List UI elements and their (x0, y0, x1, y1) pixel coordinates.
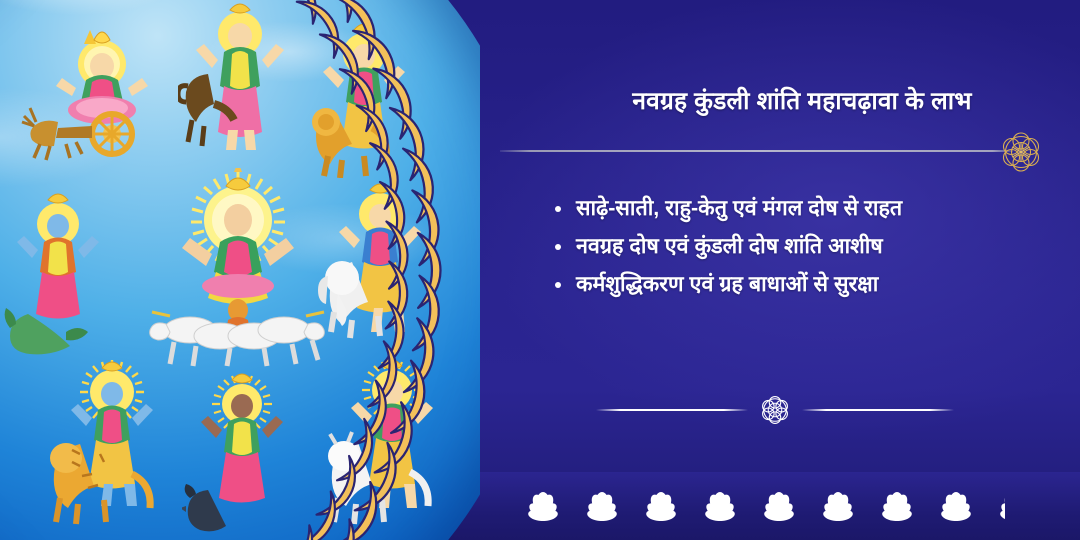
deity-shani-saturn-on-bull (318, 358, 448, 538)
white-rosette-icon (757, 392, 793, 428)
deity-chandra-moon-chariot (14, 22, 164, 162)
benefits-list: साढ़े-साती, राहु-केतु एवं मंगल दोष से रा… (548, 193, 1048, 307)
divider-line-left (596, 409, 748, 411)
list-item: नवग्रह दोष एवं कुंडली दोष शांति आशीष (548, 231, 1048, 262)
navagraha-artwork (0, 0, 480, 540)
divider-line-right (802, 409, 954, 411)
navagraha-benefits-banner: नवग्रह कुंडली शांति महाचढ़ावा के लाभ (0, 0, 1080, 540)
deity-shukra-venus-on-makara (4, 190, 114, 360)
deity-surya-sun-god-center (134, 168, 344, 368)
section-divider (540, 392, 1010, 428)
deity-ketu-on-crow (182, 372, 302, 540)
gold-rosette-icon (997, 128, 1045, 176)
deity-mangal-mars-on-ram (178, 0, 296, 160)
deity-guru-jupiter-on-elephant (318, 180, 438, 355)
list-item: साढ़े-साती, राहु-केतु एवं मंगल दोष से रा… (548, 193, 1048, 224)
list-item: कर्मशुद्धिकरण एवं ग्रह बाधाओं से सुरक्षा (548, 269, 1048, 300)
title-underline-rule (500, 150, 1013, 152)
lotus-border-decoration (515, 480, 1005, 524)
deity-budh-mercury-on-lion (312, 18, 422, 178)
benefits-content-panel: नवग्रह कुंडली शांति महाचढ़ावा के लाभ (510, 0, 1080, 540)
deity-rahu-on-tiger (38, 358, 178, 533)
page-title: नवग्रह कुंडली शांति महाचढ़ावा के लाभ (552, 84, 1052, 117)
